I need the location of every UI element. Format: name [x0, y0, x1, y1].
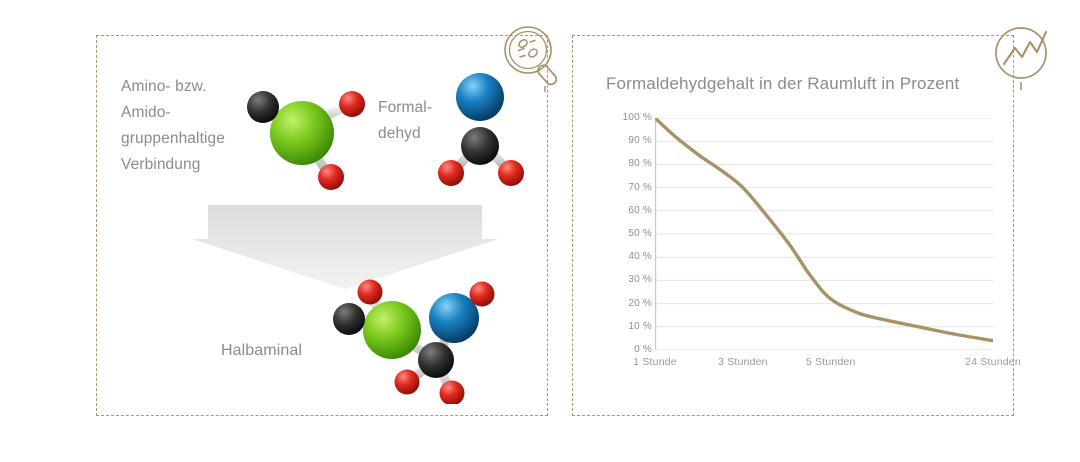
x-axis-tick: 5 Stunden	[806, 356, 856, 368]
y-axis-tick: 30 %	[606, 274, 652, 285]
y-axis-tick: 40 %	[606, 251, 652, 262]
y-axis-tick: 90 %	[606, 135, 652, 146]
y-axis-tick: 60 %	[606, 205, 652, 216]
y-axis-tick: 70 %	[606, 182, 652, 193]
y-axis-tick: 100 %	[606, 112, 652, 123]
formaldehyde-molecule	[430, 70, 538, 190]
trend-chart-icon	[988, 20, 1064, 96]
series-line	[655, 118, 993, 341]
slide-canvas: Amino- bzw. Amido- gruppenhaltige Verbin…	[0, 0, 1080, 462]
y-axis-tick: 50 %	[606, 228, 652, 239]
x-axis-tick: 1 Stunde	[633, 356, 677, 368]
x-axis-tick: 3 Stunden	[718, 356, 768, 368]
y-axis-tick: 80 %	[606, 158, 652, 169]
y-axis-tick: 10 %	[606, 321, 652, 332]
x-axis-labels: 1 Stunde3 Stunden5 Stunden24 Stunden	[655, 118, 993, 148]
x-axis-tick: 24 Stunden	[965, 356, 1021, 368]
line-chart: 100 %90 %80 %70 %60 %50 %40 %30 %20 %10 …	[600, 118, 1000, 383]
hemiaminal-molecule	[322, 272, 502, 404]
y-axis-labels: 100 %90 %80 %70 %60 %50 %40 %30 %20 %10 …	[600, 118, 652, 350]
y-axis-tick: 20 %	[606, 298, 652, 309]
y-axis-tick: 0 %	[606, 344, 652, 355]
chart-title: Formaldehydgehalt in der Raumluft in Pro…	[606, 74, 959, 94]
amine-molecule	[236, 78, 386, 198]
chart-plot-area	[655, 118, 993, 350]
